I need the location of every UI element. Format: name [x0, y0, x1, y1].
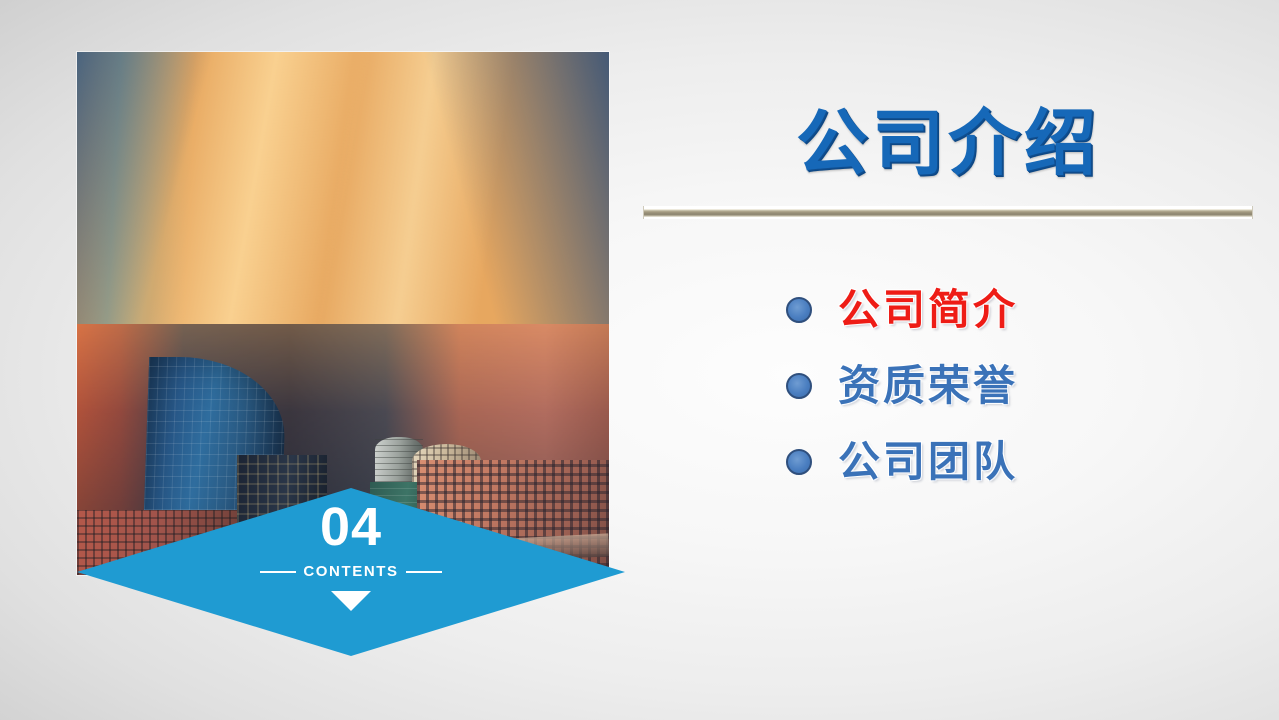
list-item-label: 资质荣誉 — [838, 364, 1018, 408]
list-item[interactable]: 公司团队 — [786, 440, 1018, 484]
list-item[interactable]: 资质荣誉 — [786, 364, 1018, 408]
list-item-label: 公司团队 — [838, 440, 1018, 484]
list-item[interactable]: 公司简介 — [786, 288, 1018, 332]
list-item-label: 公司简介 — [838, 288, 1018, 332]
bullet-dot-icon — [786, 373, 812, 399]
agenda-list: 公司简介 资质荣誉 公司团队 — [786, 288, 1018, 484]
presentation-slide: 04 CONTENTS 公司介绍 公司简介 资质荣誉 公司团队 — [0, 0, 1279, 720]
bullet-dot-icon — [786, 449, 812, 475]
title-divider — [643, 206, 1253, 219]
bullet-dot-icon — [786, 297, 812, 323]
page-title: 公司介绍 — [643, 84, 1253, 189]
